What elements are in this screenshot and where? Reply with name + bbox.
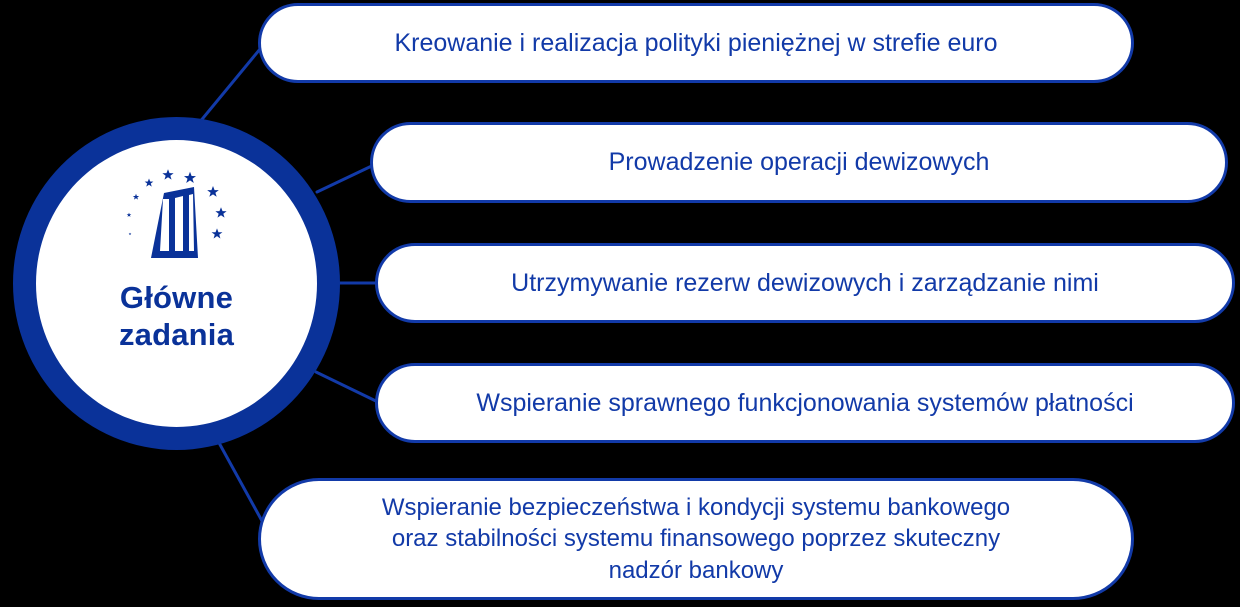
hub-label: Główne zadania [119, 280, 234, 353]
ecb-building-stars-icon [118, 166, 236, 270]
connector-line-2 [317, 163, 378, 192]
task-label: Kreowanie i realizacja polityki pieniężn… [394, 27, 997, 60]
task-box-monetary-policy[interactable]: Kreowanie i realizacja polityki pieniężn… [258, 3, 1134, 83]
task-label-block: Wspieranie bezpieczeństwa i kondycji sys… [382, 492, 1010, 586]
task-box-banking-supervision[interactable]: Wspieranie bezpieczeństwa i kondycji sys… [258, 478, 1134, 600]
task-label-line-1: Wspieranie bezpieczeństwa i kondycji sys… [382, 492, 1010, 523]
hub-circle: Główne zadania [13, 117, 340, 450]
hub-label-line-1: Główne [119, 280, 234, 317]
task-box-foreign-reserves[interactable]: Utrzymywanie rezerw dewizowych i zarządz… [375, 243, 1235, 323]
hub-label-line-2: zadania [119, 317, 234, 354]
task-label: Prowadzenie operacji dewizowych [609, 146, 990, 179]
task-box-foreign-exchange-operations[interactable]: Prowadzenie operacji dewizowych [370, 122, 1228, 203]
task-label: Wspieranie sprawnego funkcjonowania syst… [476, 387, 1133, 420]
task-box-payment-systems[interactable]: Wspieranie sprawnego funkcjonowania syst… [375, 363, 1235, 443]
task-label: Utrzymywanie rezerw dewizowych i zarządz… [511, 267, 1099, 300]
task-label-line-2: oraz stabilności systemu finansowego pop… [382, 523, 1010, 554]
diagram-canvas: Główne zadania Kreowanie i realizacja po… [0, 0, 1240, 607]
task-label-line-3: nadzór bankowy [382, 555, 1010, 586]
connector-line-4 [316, 372, 380, 403]
